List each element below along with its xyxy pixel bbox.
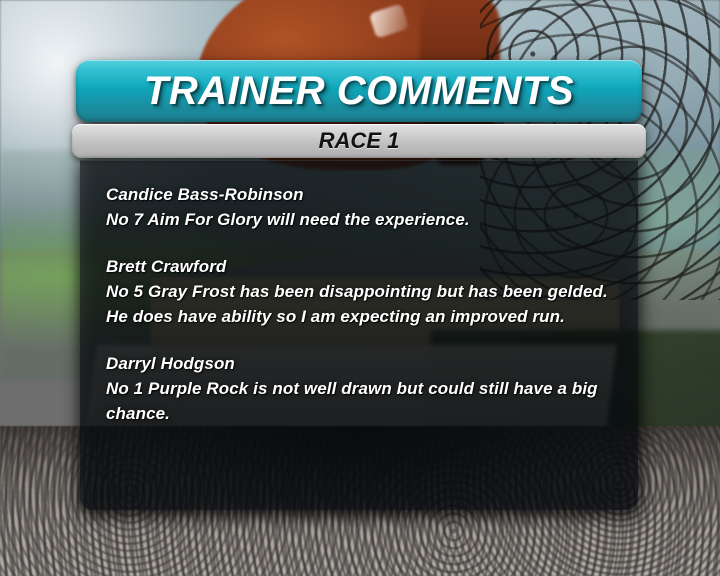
trainer-name: Brett Crawford (106, 254, 616, 279)
page-title: TRAINER COMMENTS (144, 71, 574, 111)
trainer-name: Candice Bass-Robinson (106, 182, 616, 207)
comment-line: No 7 Aim For Glory will need the experie… (106, 207, 616, 232)
race-label: RACE 1 (319, 130, 400, 152)
comment-block: Darryl Hodgson No 1 Purple Rock is not w… (106, 351, 616, 426)
race-subtitle-bar: RACE 1 (72, 124, 646, 158)
trainer-name: Darryl Hodgson (106, 351, 616, 376)
comment-line: He does have ability so I am expecting a… (106, 304, 616, 329)
trainer-comments-card: TRAINER COMMENTS RACE 1 Candice Bass-Rob… (76, 60, 642, 510)
comment-block: Candice Bass-Robinson No 7 Aim For Glory… (106, 182, 616, 232)
title-bar: TRAINER COMMENTS (76, 60, 642, 122)
comment-block: Brett Crawford No 5 Gray Frost has been … (106, 254, 616, 329)
comment-line: No 1 Purple Rock is not well drawn but c… (106, 376, 616, 426)
comments-panel: Candice Bass-Robinson No 7 Aim For Glory… (80, 160, 638, 510)
screenshot-stage: TRAINER COMMENTS RACE 1 Candice Bass-Rob… (0, 0, 720, 576)
comment-line: No 5 Gray Frost has been disappointing b… (106, 279, 616, 304)
